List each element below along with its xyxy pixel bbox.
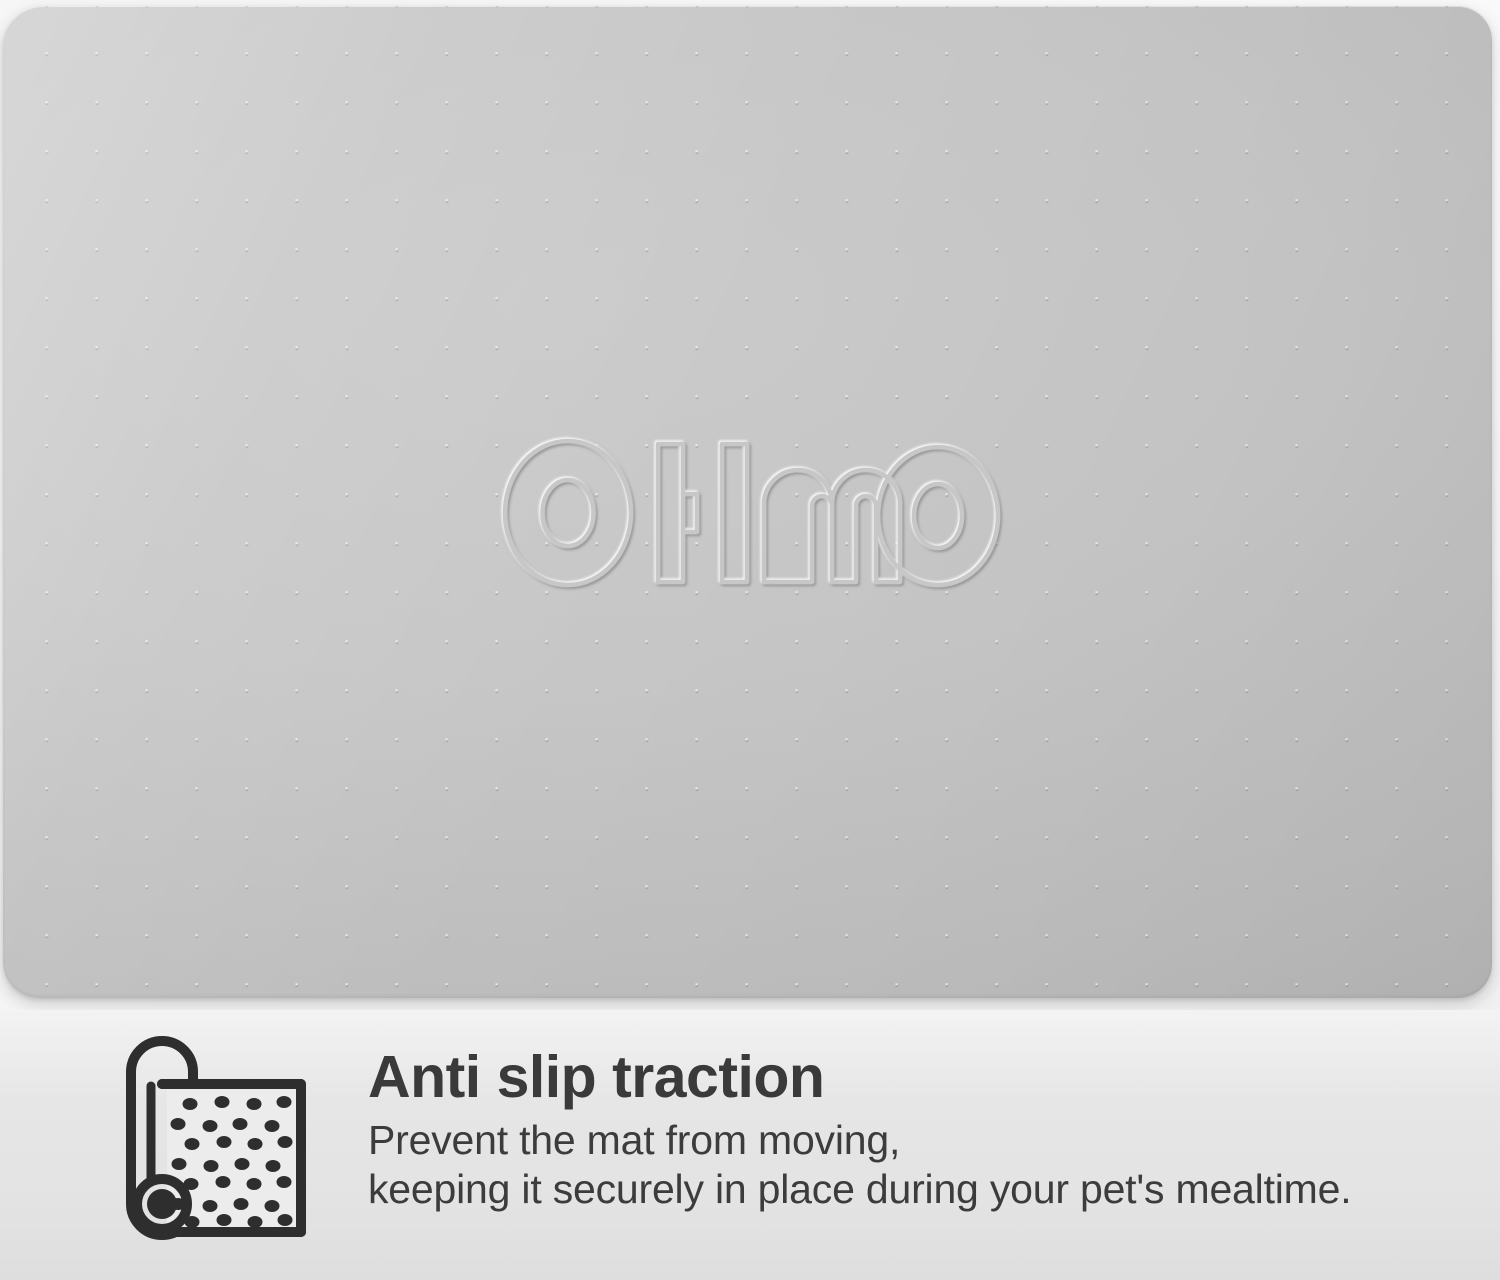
product-feature-image: Anti slip traction Prevent the mat from … [0,0,1500,1280]
pet-feeding-mat [3,6,1492,998]
product-photo-area [0,0,1500,1010]
feature-description-line-2: keeping it securely in place during your… [368,1165,1458,1214]
mat-surface-sheen [3,6,1492,998]
mat-traction-dot-grid [3,6,1492,998]
feature-title: Anti slip traction [368,1044,1458,1110]
embossed-brand-logo [500,430,1006,596]
rolled-mat-dots-icon [118,1034,314,1242]
feature-description-line-1: Prevent the mat from moving, [368,1116,1458,1165]
feature-text-block: Anti slip traction Prevent the mat from … [368,1044,1458,1214]
